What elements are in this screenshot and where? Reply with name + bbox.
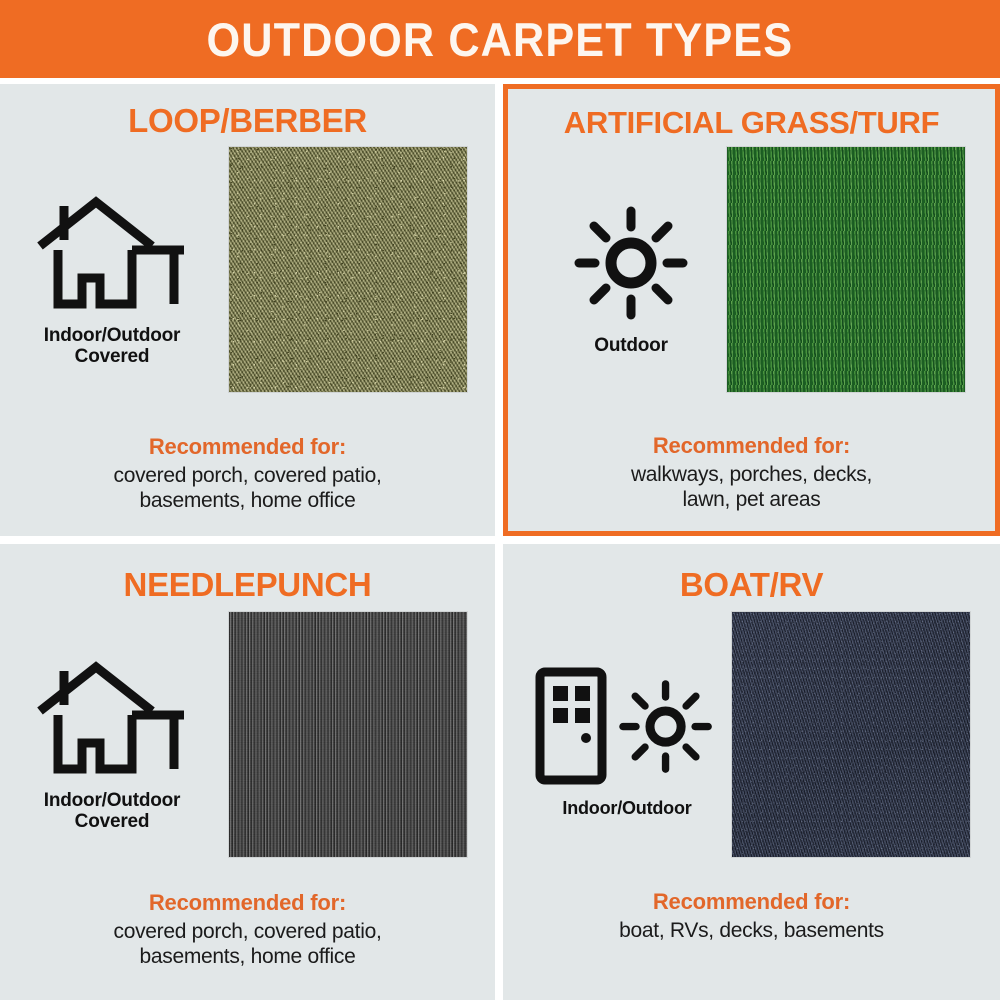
infographic-page: OUTDOOR CARPET TYPES LOOP/BERBER (0, 0, 1000, 1000)
sun-icon-part (623, 684, 708, 769)
recommend-line-1: walkways, porches, decks, (520, 462, 983, 488)
house-icon (14, 654, 210, 782)
recommend-heading: Recommended for: (12, 434, 483, 460)
usage-label-needlepunch: Indoor/Outdoor Covered (14, 790, 210, 833)
usage-label-boat-rv: Indoor/Outdoor (527, 798, 727, 818)
usage-label-line-2: Covered (14, 346, 210, 367)
recommend-body: walkways, porches, decks, lawn, pet area… (520, 462, 983, 513)
recommend-line-2: basements, home office (12, 488, 483, 514)
recommendation-needlepunch: Recommended for: covered porch, covered … (12, 890, 483, 970)
usage-label-line-1: Indoor/Outdoor (14, 325, 210, 346)
recommendation-boat-rv: Recommended for: boat, RVs, decks, basem… (515, 889, 988, 944)
recommend-line-2: lawn, pet areas (520, 487, 983, 513)
recommendation-artificial-grass-turf: Recommended for: walkways, porches, deck… (520, 433, 983, 513)
usage-label-line-1: Outdoor (546, 335, 716, 356)
loop-berber-carpet-swatch (229, 147, 467, 392)
recommend-body: covered porch, covered patio, basements,… (12, 919, 483, 970)
usage-label-line-2: Covered (14, 811, 210, 832)
artificial-turf-swatch (727, 147, 965, 392)
usage-block-artificial-grass-turf: Outdoor (546, 199, 716, 356)
recommendation-loop-berber: Recommended for: covered porch, covered … (12, 434, 483, 514)
panel-loop-berber[interactable]: LOOP/BERBER Indoo (0, 84, 495, 536)
header-banner: OUTDOOR CARPET TYPES (0, 0, 1000, 78)
recommend-body: covered porch, covered patio, basements,… (12, 463, 483, 514)
needlepunch-carpet-swatch (229, 612, 467, 857)
recommend-heading: Recommended for: (12, 890, 483, 916)
usage-block-boat-rv: Indoor/Outdoor (527, 662, 727, 818)
usage-label-line-1: Indoor/Outdoor (527, 798, 727, 818)
recommend-line-1: boat, RVs, decks, basements (515, 918, 988, 944)
usage-block-loop-berber: Indoor/Outdoor Covered (14, 189, 210, 368)
door-and-sun-icon (527, 662, 727, 790)
recommend-line-2: basements, home office (12, 944, 483, 970)
usage-label-artificial-grass-turf: Outdoor (546, 335, 716, 356)
panel-title-loop-berber: LOOP/BERBER (0, 102, 495, 140)
page-title: OUTDOOR CARPET TYPES (207, 12, 794, 67)
recommend-body: boat, RVs, decks, basements (515, 918, 988, 944)
carpet-type-grid: LOOP/BERBER Indoo (0, 78, 1000, 1000)
boat-rv-carpet-swatch (732, 612, 970, 857)
usage-label-loop-berber: Indoor/Outdoor Covered (14, 325, 210, 368)
door-icon-part (540, 672, 602, 780)
usage-block-needlepunch: Indoor/Outdoor Covered (14, 654, 210, 833)
panel-artificial-grass-turf[interactable]: ARTIFICIAL GRASS/TURF (503, 84, 1000, 536)
recommend-line-1: covered porch, covered patio, (12, 463, 483, 489)
usage-label-line-1: Indoor/Outdoor (14, 790, 210, 811)
panel-title-boat-rv: BOAT/RV (503, 566, 1000, 604)
panel-title-needlepunch: NEEDLEPUNCH (0, 566, 495, 604)
panel-boat-rv[interactable]: BOAT/RV (503, 544, 1000, 1000)
recommend-heading: Recommended for: (520, 433, 983, 459)
panel-title-artificial-grass-turf: ARTIFICIAL GRASS/TURF (508, 105, 995, 141)
recommend-heading: Recommended for: (515, 889, 988, 915)
panel-needlepunch[interactable]: NEEDLEPUNCH Indoo (0, 544, 495, 1000)
house-icon (14, 189, 210, 317)
recommend-line-1: covered porch, covered patio, (12, 919, 483, 945)
sun-icon (546, 199, 716, 327)
